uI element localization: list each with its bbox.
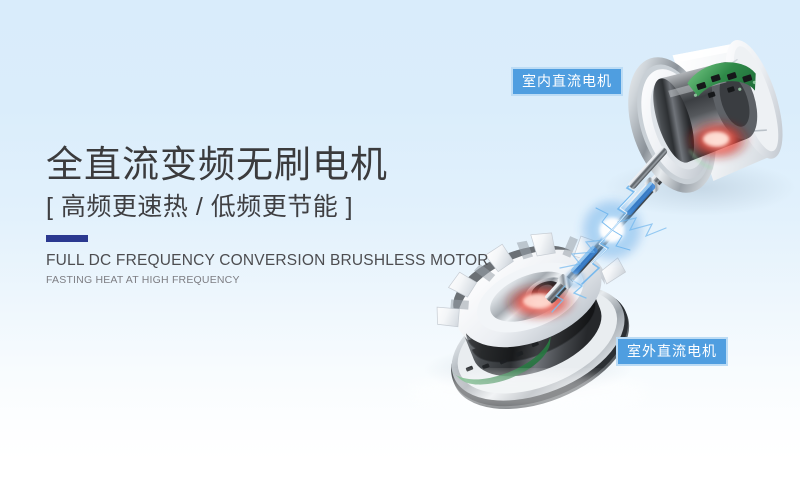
page-title: 全直流变频无刷电机 [46, 143, 476, 187]
english-subheadline: FASTING HEAT AT HIGH FREQUENCY [46, 273, 476, 288]
callout-indoor-motor: 室内直流电机 [511, 67, 623, 96]
page-subtitle: [ 高频更速热 / 低频更节能 ] [46, 191, 476, 223]
callout-outdoor-motor: 室外直流电机 [616, 337, 728, 366]
accent-divider [46, 235, 88, 242]
english-headline: FULL DC FREQUENCY CONVERSION BRUSHLESS M… [46, 251, 476, 270]
headline-block: 全直流变频无刷电机 [ 高频更速热 / 低频更节能 ] FULL DC FREQ… [46, 143, 476, 288]
promo-banner: 全直流变频无刷电机 [ 高频更速热 / 低频更节能 ] FULL DC FREQ… [0, 0, 800, 481]
